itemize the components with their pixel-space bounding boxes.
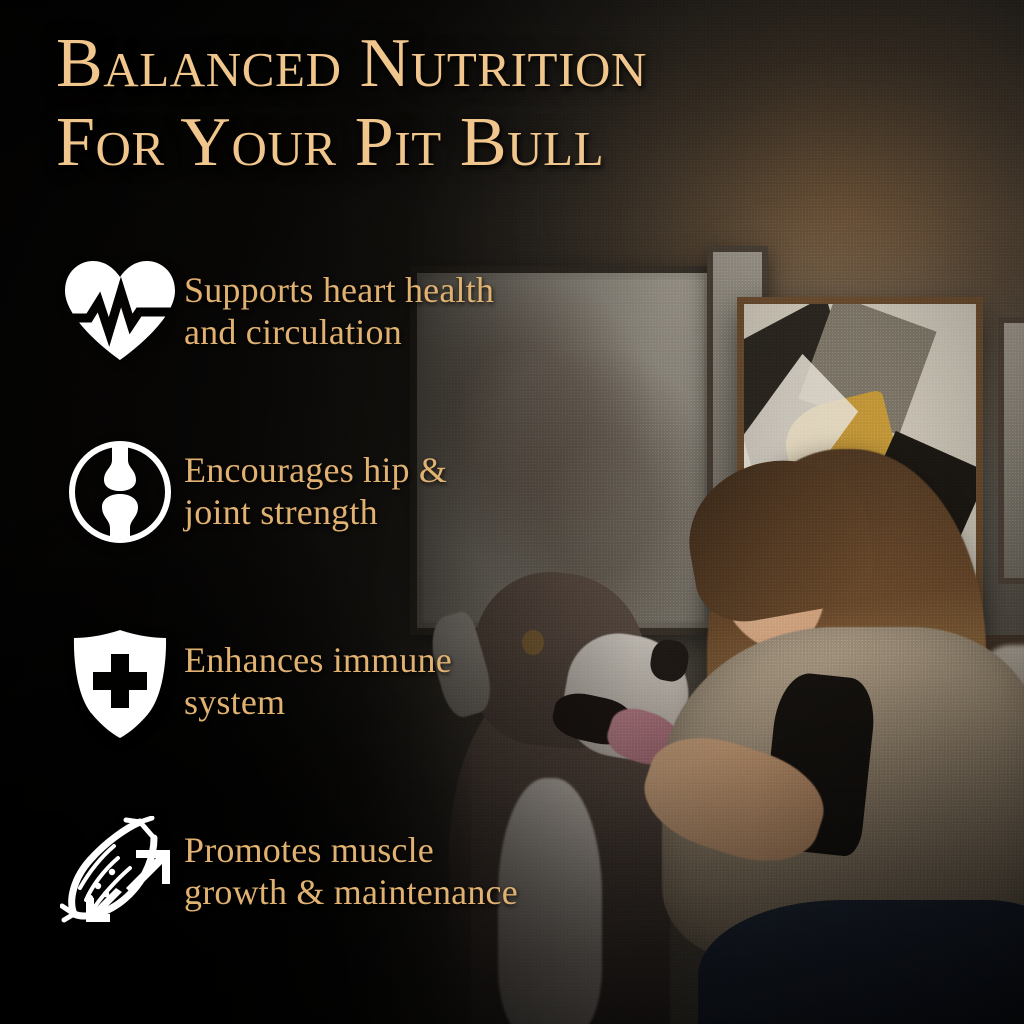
- benefit-line-1: Promotes muscle: [184, 830, 434, 870]
- heart-pulse-icon: [56, 258, 184, 366]
- benefit-list: Supports heart health and circulation: [56, 258, 696, 998]
- benefit-text-heart-health: Supports heart health and circulation: [184, 258, 494, 354]
- poster: Balanced Nutrition For Your Pit Bull: [0, 0, 1024, 1024]
- benefit-line-2: system: [184, 682, 285, 722]
- bone-joint-icon: [56, 438, 184, 546]
- benefit-item-hip-joint: Encourages hip & joint strength: [56, 438, 696, 628]
- page-title: Balanced Nutrition For Your Pit Bull: [56, 30, 956, 176]
- benefit-line-2: growth & maintenance: [184, 872, 518, 912]
- title-line-2: For Your Pit Bull: [56, 109, 956, 176]
- benefit-line-1: Encourages hip &: [184, 450, 447, 490]
- muscle-growth-icon: [56, 818, 184, 926]
- title-line-1: Balanced Nutrition: [56, 30, 956, 97]
- benefit-item-immune-system: Enhances immune system: [56, 628, 696, 818]
- benefit-text-immune-system: Enhances immune system: [184, 628, 452, 724]
- shield-cross-icon: [56, 628, 184, 736]
- benefit-line-1: Enhances immune: [184, 640, 452, 680]
- benefit-line-2: joint strength: [184, 492, 378, 532]
- benefit-text-hip-joint: Encourages hip & joint strength: [184, 438, 447, 534]
- benefit-line-2: and circulation: [184, 312, 402, 352]
- poster-content: Balanced Nutrition For Your Pit Bull: [0, 0, 1024, 1024]
- benefit-item-heart-health: Supports heart health and circulation: [56, 258, 696, 438]
- benefit-item-muscle-growth: Promotes muscle growth & maintenance: [56, 818, 696, 998]
- benefit-text-muscle-growth: Promotes muscle growth & maintenance: [184, 818, 518, 914]
- benefit-line-1: Supports heart health: [184, 270, 494, 310]
